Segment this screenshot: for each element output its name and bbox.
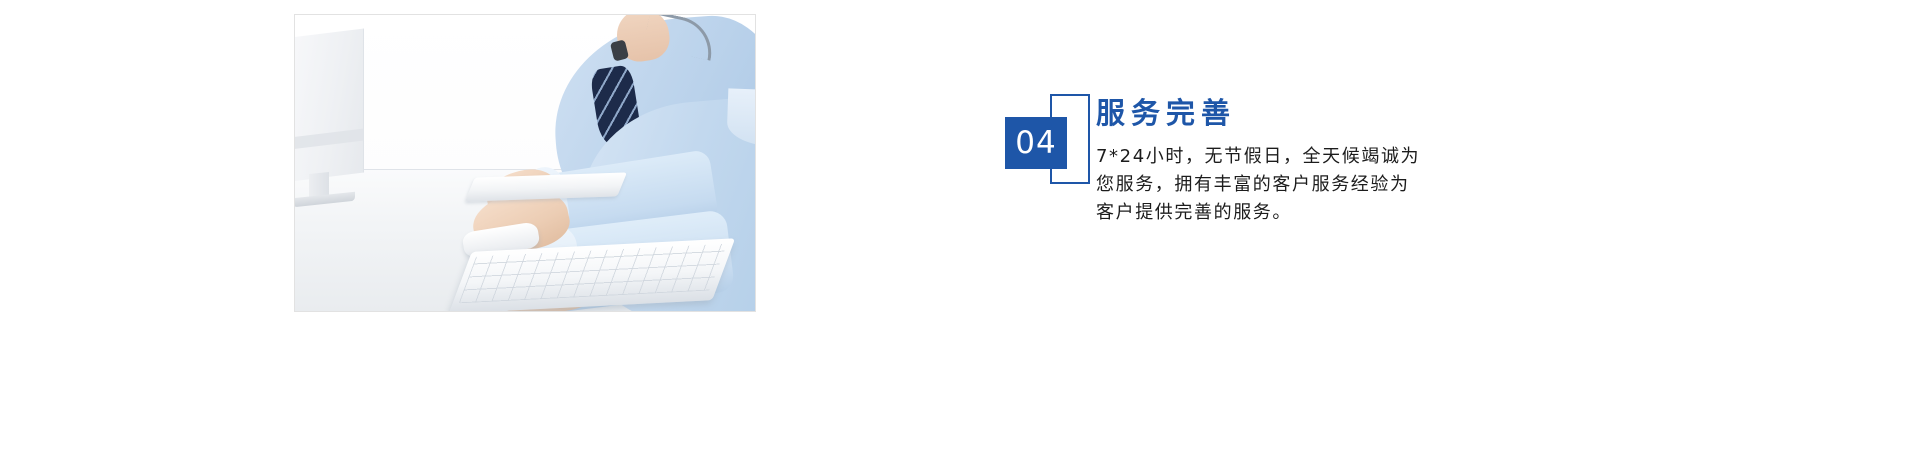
badge-filled-square: 04 (1005, 117, 1067, 169)
description-line-2: 您服务，拥有丰富的客户服务经验为 (1096, 171, 1566, 199)
call-center-photo (294, 14, 756, 312)
step-badge: 04 (1005, 90, 1095, 186)
feature-block: 04 服务完善 7*24小时，无节假日，全天候竭诚为 您服务，拥有丰富的客户服务… (1005, 90, 1565, 270)
feature-description: 7*24小时，无节假日，全天候竭诚为 您服务，拥有丰富的客户服务经验为 客户提供… (1096, 143, 1566, 227)
page-canvas: 04 服务完善 7*24小时，无节假日，全天候竭诚为 您服务，拥有丰富的客户服务… (0, 0, 1920, 452)
monitor-screen-shape (295, 29, 364, 182)
photo-scene (295, 15, 755, 311)
feature-text-column: 服务完善 7*24小时，无节假日，全天候竭诚为 您服务，拥有丰富的客户服务经验为… (1096, 90, 1566, 227)
keyboard-keys-shape (459, 244, 728, 304)
description-line-1: 7*24小时，无节假日，全天候竭诚为 (1096, 143, 1566, 171)
front-agent-collar-shape (726, 88, 755, 148)
description-line-3: 客户提供完善的服务。 (1096, 199, 1566, 227)
badge-number: 04 (1015, 128, 1056, 159)
feature-heading: 服务完善 (1096, 96, 1566, 131)
